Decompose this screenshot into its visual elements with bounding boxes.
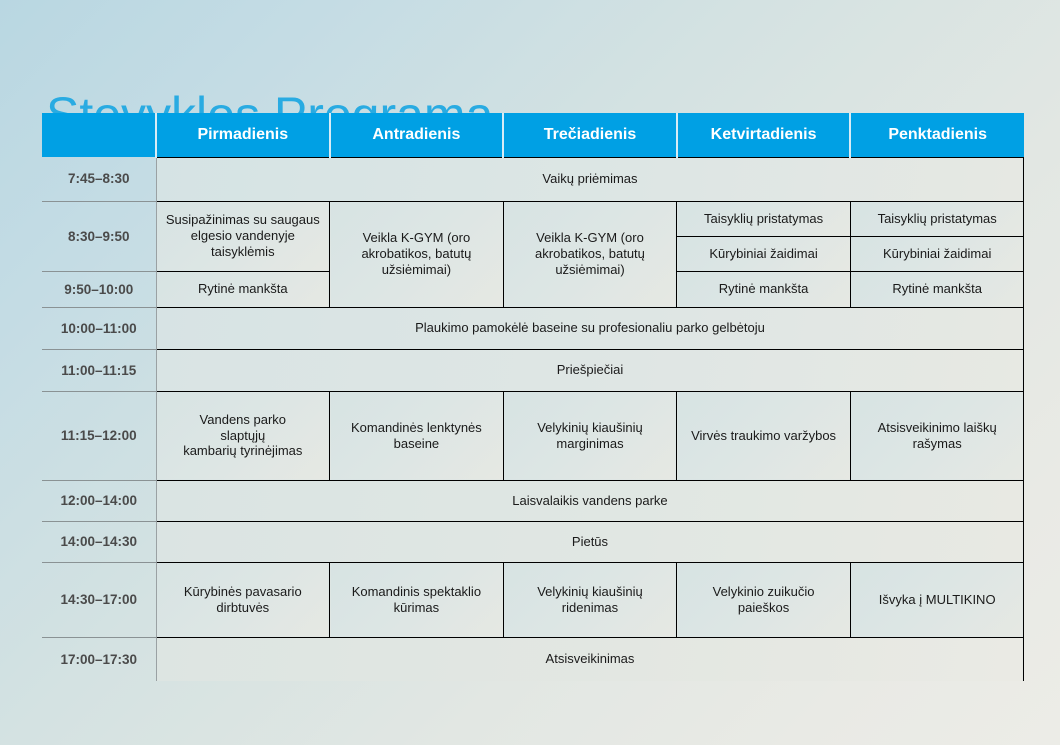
cell-morning-friday-games[interactable]: Kūrybiniai žaidimai [850,236,1024,271]
cell-line: rašymas [856,436,1019,452]
time-label-snack: 11:00–11:15 [42,349,156,391]
schedule-table: Pirmadienis Antradienis Trečiadienis Ket… [42,113,1024,681]
cell-morning-thursday-games[interactable]: Kūrybiniai žaidimai [677,236,851,271]
table-row-lunch: 14:00–14:30 Pietūs [42,521,1024,562]
cell-line: slaptųjų [162,428,325,444]
page-root: Stovyklos Programa Pirmadienis Antradien… [0,0,1060,745]
cell-line: Veikla K-GYM (oro [335,230,498,246]
cell-activity-tuesday[interactable]: Komandinės lenktynės baseine [330,391,504,480]
cell-line: Komandinės lenktynės [335,420,498,436]
cell-line: ridenimas [509,600,672,616]
time-label-morning: 8:30–9:50 [42,201,156,271]
cell-afternoon-monday[interactable]: Kūrybinės pavasario dirbtuvės [156,562,330,637]
cell-morning-thursday-rules[interactable]: Taisyklių pristatymas [677,201,851,236]
cell-line: Velykinio zuikučio [682,584,845,600]
header-day-monday[interactable]: Pirmadienis [156,113,330,157]
time-label-welcome: 7:45–8:30 [42,157,156,201]
cell-line: Virvės traukimo varžybos [682,428,845,444]
cell-afternoon-wednesday[interactable]: Velykinių kiaušinių ridenimas [503,562,677,637]
cell-activity-wednesday[interactable]: Velykinių kiaušinių marginimas [503,391,677,480]
cell-line: akrobatikos, batutų [509,246,672,262]
cell-exercise-monday[interactable]: Rytinė mankšta [156,271,330,307]
cell-line: užsiėmimai) [335,262,498,278]
cell-line: akrobatikos, batutų [335,246,498,262]
table-header: Pirmadienis Antradienis Trečiadienis Ket… [42,113,1024,157]
cell-lunch-all-days[interactable]: Pietūs [156,521,1024,562]
table-body: 7:45–8:30 Vaikų priėmimas 8:30–9:50 Susi… [42,157,1024,681]
table-row-snack: 11:00–11:15 Priešpiečiai [42,349,1024,391]
header-day-thursday[interactable]: Ketvirtadienis [677,113,851,157]
cell-line: Komandinis spektaklio [335,584,498,600]
time-label-lunch: 14:00–14:30 [42,521,156,562]
table-row-morning-a: 8:30–9:50 Susipažinimas su saugaus elges… [42,201,1024,236]
time-label-pool: 10:00–11:00 [42,307,156,349]
cell-line: kūrimas [335,600,498,616]
header-day-tuesday[interactable]: Antradienis [330,113,504,157]
cell-free-time-all-days[interactable]: Laisvalaikis vandens parke [156,480,1024,521]
table-row-welcome: 7:45–8:30 Vaikų priėmimas [42,157,1024,201]
cell-exercise-thursday[interactable]: Rytinė mankšta [677,271,851,307]
cell-morning-wednesday[interactable]: Veikla K-GYM (oro akrobatikos, batutų už… [503,201,677,307]
cell-line: elgesio vandenyje [162,228,325,244]
header-corner [42,113,156,157]
cell-line: baseine [335,436,498,452]
header-day-wednesday[interactable]: Trečiadienis [503,113,677,157]
table-row-activity: 11:15–12:00 Vandens parko slaptųjų kamba… [42,391,1024,480]
cell-morning-tuesday[interactable]: Veikla K-GYM (oro akrobatikos, batutų už… [330,201,504,307]
cell-line: Susipažinimas su saugaus [162,212,325,228]
cell-afternoon-tuesday[interactable]: Komandinis spektaklio kūrimas [330,562,504,637]
cell-line: Veikla K-GYM (oro [509,230,672,246]
cell-line: užsiėmimai) [509,262,672,278]
cell-line: taisyklėmis [162,244,325,260]
header-day-friday[interactable]: Penktadienis [850,113,1024,157]
cell-line: Išvyka į MULTIKINO [856,592,1019,608]
cell-activity-thursday[interactable]: Virvės traukimo varžybos [677,391,851,480]
cell-line: paieškos [682,600,845,616]
cell-line: Kūrybinės pavasario [162,584,325,600]
cell-afternoon-thursday[interactable]: Velykinio zuikučio paieškos [677,562,851,637]
cell-afternoon-friday[interactable]: Išvyka į MULTIKINO [850,562,1024,637]
table-row-pool: 10:00–11:00 Plaukimo pamokėlė baseine su… [42,307,1024,349]
cell-line: marginimas [509,436,672,452]
time-label-exercise: 9:50–10:00 [42,271,156,307]
cell-snack-all-days[interactable]: Priešpiečiai [156,349,1024,391]
cell-welcome-all-days[interactable]: Vaikų priėmimas [156,157,1024,201]
cell-exercise-friday[interactable]: Rytinė mankšta [850,271,1024,307]
time-label-afternoon: 14:30–17:00 [42,562,156,637]
cell-line: kambarių tyrinėjimas [162,443,325,459]
cell-line: Velykinių kiaušinių [509,584,672,600]
cell-morning-monday[interactable]: Susipažinimas su saugaus elgesio vandeny… [156,201,330,271]
time-label-farewell: 17:00–17:30 [42,637,156,681]
cell-activity-friday[interactable]: Atsisveikinimo laiškų rašymas [850,391,1024,480]
cell-line: dirbtuvės [162,600,325,616]
table-row-farewell: 17:00–17:30 Atsisveikinimas [42,637,1024,681]
cell-morning-friday-rules[interactable]: Taisyklių pristatymas [850,201,1024,236]
cell-farewell-all-days[interactable]: Atsisveikinimas [156,637,1024,681]
cell-line: Velykinių kiaušinių [509,420,672,436]
time-label-free-time: 12:00–14:00 [42,480,156,521]
table-row-afternoon: 14:30–17:00 Kūrybinės pavasario dirbtuvė… [42,562,1024,637]
time-label-activity: 11:15–12:00 [42,391,156,480]
cell-line: Vandens parko [162,412,325,428]
cell-pool-all-days[interactable]: Plaukimo pamokėlė baseine su profesional… [156,307,1024,349]
cell-line: Atsisveikinimo laiškų [856,420,1019,436]
table-row-free-time: 12:00–14:00 Laisvalaikis vandens parke [42,480,1024,521]
header-row: Pirmadienis Antradienis Trečiadienis Ket… [42,113,1024,157]
cell-activity-monday[interactable]: Vandens parko slaptųjų kambarių tyrinėji… [156,391,330,480]
